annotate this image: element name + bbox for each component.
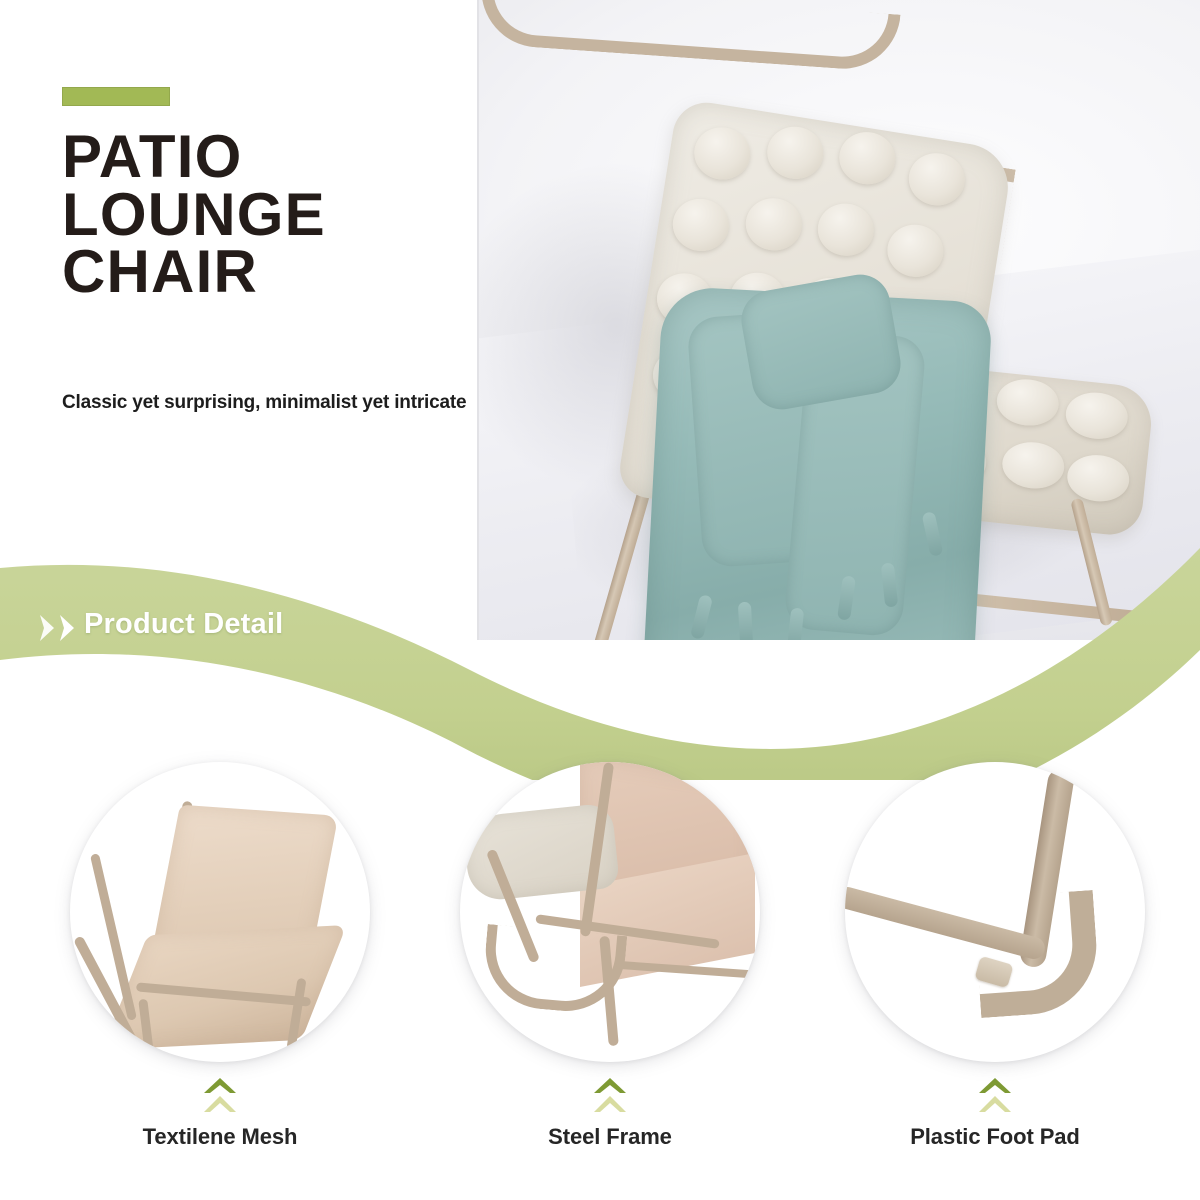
cushion-tuft [1000,439,1066,491]
cushion-tuft [883,220,946,280]
double-chevron-right-icon [38,612,82,644]
detail-label: Textilene Mesh [60,1124,380,1150]
page-title: PATIO LOUNGE CHAIR [62,128,462,301]
title-line-2: LOUNGE [62,186,462,244]
cushion-tuft [690,123,753,183]
cushion-tuft [1065,452,1131,504]
title-line-1: PATIO [62,128,462,186]
hero-section: PATIO LOUNGE CHAIR Classic yet surprisin… [0,0,1200,640]
product-detail-page: PATIO LOUNGE CHAIR Classic yet surprisin… [0,0,1200,1200]
hero-product-photo [479,0,1200,640]
cushion-tuft [835,128,898,188]
double-chevron-up-icon [203,1076,237,1116]
detail-label: Plastic Foot Pad [835,1124,1155,1150]
detail-image-steel-frame [460,762,760,1062]
double-chevron-up-icon [593,1076,627,1116]
cushion-tuft [1063,390,1129,442]
detail-label: Steel Frame [450,1124,770,1150]
cushion-tuft [814,199,877,259]
cushion-tuft [669,194,732,254]
chair-frame-runner [479,0,901,73]
cushion-tuft [994,377,1060,429]
detail-image-plastic-foot-pad [845,762,1145,1062]
cushion-tuft [742,194,805,254]
title-block: PATIO LOUNGE CHAIR Classic yet surprisin… [0,0,478,640]
product-detail-label: Product Detail [84,608,283,641]
detail-item-plastic-foot-pad[interactable]: Plastic Foot Pad [835,762,1155,1150]
accent-bar [62,87,170,106]
cushion-tuft [763,122,826,182]
detail-image-textilene-mesh [70,762,370,1062]
throw-tassel [737,601,752,640]
throw-fold [736,269,905,413]
title-line-3: CHAIR [62,243,462,301]
detail-features-section: Textilene Mesh [0,762,1200,1200]
cushion-tuft [905,149,968,209]
page-subtitle: Classic yet surprising, minimalist yet i… [62,392,482,414]
detail-item-textilene-mesh[interactable]: Textilene Mesh [60,762,380,1150]
detail-item-steel-frame[interactable]: Steel Frame [450,762,770,1150]
double-chevron-up-icon [978,1076,1012,1116]
